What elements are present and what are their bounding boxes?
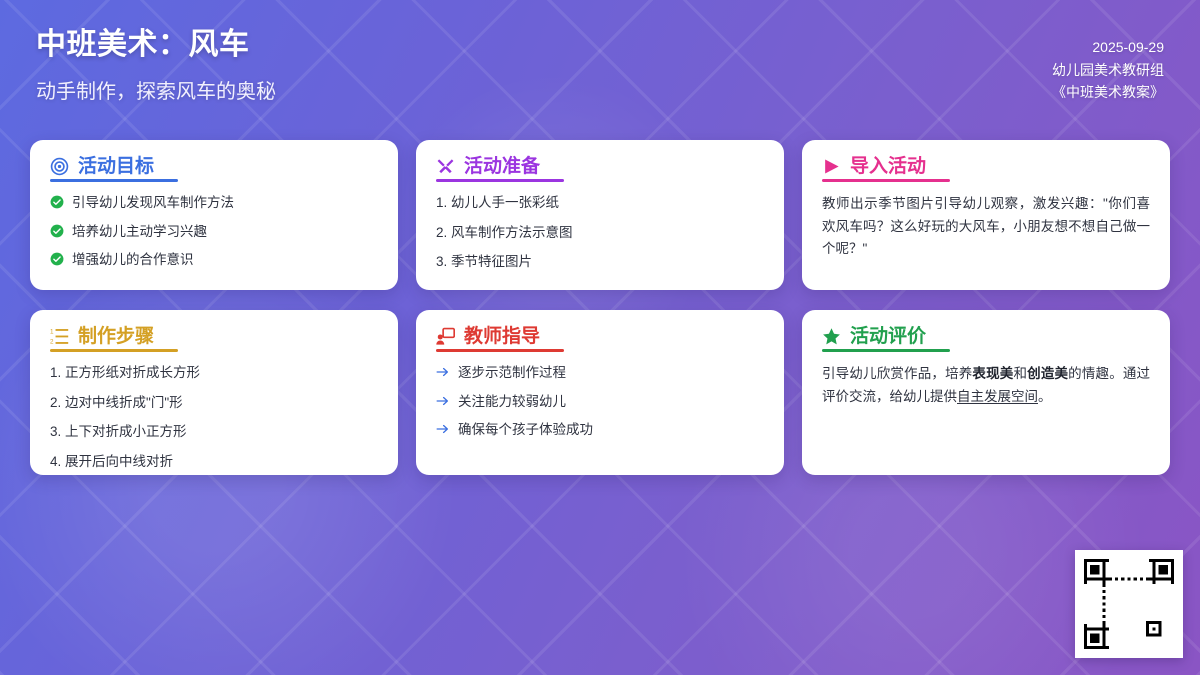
header-org: 幼儿园美术教研组 — [1052, 59, 1164, 82]
card-steps[interactable]: 1 2 制作步骤 正方形纸对折成长方形 边对中线折成"门"形 上下对折成小正方形… — [30, 310, 398, 475]
header-source: 《中班美术教案》 — [1052, 81, 1164, 104]
card-header: 活动评价 — [822, 327, 1150, 352]
rich-text-segment: 创造美 — [1027, 366, 1068, 381]
check-circle-icon — [50, 252, 64, 266]
ordered-list-icon: 1 2 — [50, 327, 69, 346]
presenter-icon — [436, 327, 455, 346]
check-circle-icon — [50, 195, 64, 209]
check-circle-icon — [50, 224, 64, 238]
rich-text-segment: 和 — [1013, 366, 1027, 381]
card-title: 活动评价 — [850, 327, 926, 346]
qr-code-image — [1084, 559, 1174, 649]
header-meta: 2025-09-29 幼儿园美术教研组 《中班美术教案》 — [1052, 26, 1164, 104]
tools-icon — [436, 157, 455, 176]
list-item-label: 培养幼儿主动学习兴趣 — [72, 222, 207, 242]
list-item: 关注能力较弱幼儿 — [436, 392, 764, 412]
card-title: 制作步骤 — [78, 327, 154, 346]
list-item: 逐步示范制作过程 — [436, 363, 764, 383]
target-icon — [50, 157, 69, 176]
list-item: 培养幼儿主动学习兴趣 — [50, 222, 378, 242]
header-left: 中班美术：风车 动手制作，探索风车的奥秘 — [36, 26, 276, 104]
list-item: 确保每个孩子体验成功 — [436, 420, 764, 440]
arrow-right-icon — [436, 422, 450, 436]
list-item-label: 引导幼儿发现风车制作方法 — [72, 193, 234, 213]
list-item: 风车制作方法示意图 — [436, 223, 764, 243]
list-item: 季节特征图片 — [436, 252, 764, 272]
qr-code[interactable] — [1075, 550, 1183, 658]
arrow-right-icon — [436, 394, 450, 408]
list-item: 上下对折成小正方形 — [50, 422, 378, 442]
svg-text:2: 2 — [50, 339, 54, 346]
list-item: 幼儿人手一张彩纸 — [436, 193, 764, 213]
steps-list: 正方形纸对折成长方形 边对中线折成"门"形 上下对折成小正方形 展开后向中线对折 — [50, 363, 378, 471]
card-title: 教师指导 — [464, 327, 540, 346]
rich-text-segment: 自主发展空间 — [957, 389, 1038, 404]
preparation-list: 幼儿人手一张彩纸 风车制作方法示意图 季节特征图片 — [436, 193, 764, 272]
rich-text-segment: 。 — [1038, 389, 1052, 404]
page-header: 中班美术：风车 动手制作，探索风车的奥秘 2025-09-29 幼儿园美术教研组… — [0, 0, 1200, 128]
list-item-label: 逐步示范制作过程 — [458, 363, 566, 383]
list-item: 引导幼儿发现风车制作方法 — [50, 193, 378, 213]
list-item: 边对中线折成"门"形 — [50, 393, 378, 413]
card-goals[interactable]: 活动目标 引导幼儿发现风车制作方法 培养幼儿主动学习兴趣 — [30, 140, 398, 290]
card-header: 1 2 制作步骤 — [50, 327, 378, 352]
list-item: 正方形纸对折成长方形 — [50, 363, 378, 383]
arrow-right-icon — [436, 365, 450, 379]
list-item-label: 确保每个孩子体验成功 — [458, 420, 593, 440]
card-title: 导入活动 — [850, 157, 926, 176]
card-header: 活动准备 — [436, 157, 764, 182]
header-date: 2025-09-29 — [1052, 36, 1164, 59]
svg-text:1: 1 — [50, 329, 54, 336]
page-subtitle: 动手制作，探索风车的奥秘 — [36, 75, 276, 104]
guidance-list: 逐步示范制作过程 关注能力较弱幼儿 确保每个孩子体验成功 — [436, 363, 764, 440]
star-icon — [822, 327, 841, 346]
rich-text-segment: 引导幼儿欣赏作品，培养 — [822, 366, 972, 381]
introduction-text: 教师出示季节图片引导幼儿观察，激发兴趣："你们喜欢风车吗？这么好玩的大风车，小朋… — [822, 193, 1150, 261]
card-title: 活动目标 — [78, 157, 154, 176]
card-header: 活动目标 — [50, 157, 378, 182]
card-header: 教师指导 — [436, 327, 764, 352]
evaluation-text: 引导幼儿欣赏作品，培养表现美和创造美的情趣。通过评价交流，给幼儿提供自主发展空间… — [822, 363, 1150, 408]
goals-list: 引导幼儿发现风车制作方法 培养幼儿主动学习兴趣 增强幼儿的合作意识 — [50, 193, 378, 270]
card-preparation[interactable]: 活动准备 幼儿人手一张彩纸 风车制作方法示意图 季节特征图片 — [416, 140, 784, 290]
card-title: 活动准备 — [464, 157, 540, 176]
card-header: 导入活动 — [822, 157, 1150, 182]
list-item: 增强幼儿的合作意识 — [50, 250, 378, 270]
list-item-label: 增强幼儿的合作意识 — [72, 250, 194, 270]
card-grid: 活动目标 引导幼儿发现风车制作方法 培养幼儿主动学习兴趣 — [30, 140, 1170, 475]
page-title: 中班美术：风车 — [36, 26, 276, 64]
play-icon — [822, 157, 841, 176]
card-teacher-guidance[interactable]: 教师指导 逐步示范制作过程 关注能力较弱幼儿 确保每个孩子体验成功 — [416, 310, 784, 475]
rich-text-segment: 表现美 — [972, 366, 1013, 381]
list-item-label: 关注能力较弱幼儿 — [458, 392, 566, 412]
card-evaluation[interactable]: 活动评价 引导幼儿欣赏作品，培养表现美和创造美的情趣。通过评价交流，给幼儿提供自… — [802, 310, 1170, 475]
card-introduction[interactable]: 导入活动 教师出示季节图片引导幼儿观察，激发兴趣："你们喜欢风车吗？这么好玩的大… — [802, 140, 1170, 290]
list-item: 展开后向中线对折 — [50, 452, 378, 472]
